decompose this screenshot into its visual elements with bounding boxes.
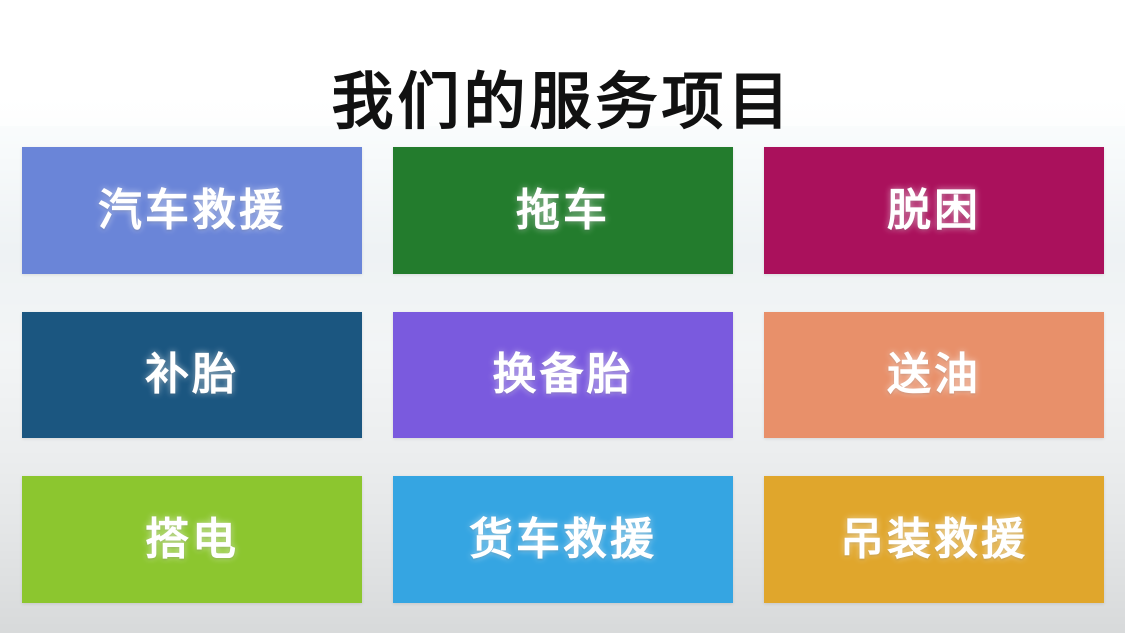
service-tile-label: 送油 xyxy=(887,353,981,397)
service-tile-truck-rescue[interactable]: 货车救援 xyxy=(393,476,733,603)
service-tile-label: 汽车救援 xyxy=(98,189,286,233)
service-tile-spare-tire-change[interactable]: 换备胎 xyxy=(393,312,733,438)
services-grid: 汽车救援 拖车 脱困 补胎 换备胎 送油 搭电 货车救援 吊装救援 xyxy=(22,147,1105,617)
service-tile-label: 换备胎 xyxy=(493,353,634,397)
service-tile-extrication[interactable]: 脱困 xyxy=(764,147,1104,274)
service-tile-tire-repair[interactable]: 补胎 xyxy=(22,312,362,438)
service-tile-label: 搭电 xyxy=(145,518,239,562)
service-tile-crane-lifting-rescue[interactable]: 吊装救援 xyxy=(764,476,1104,603)
service-tile-car-rescue[interactable]: 汽车救援 xyxy=(22,147,362,274)
service-tile-label: 货车救援 xyxy=(469,518,657,562)
page-title: 我们的服务项目 xyxy=(0,62,1125,142)
service-tile-label: 吊装救援 xyxy=(840,518,1028,562)
service-tile-label: 拖车 xyxy=(516,189,610,233)
service-tile-label: 脱困 xyxy=(887,189,981,233)
service-tile-fuel-delivery[interactable]: 送油 xyxy=(764,312,1104,438)
service-tile-tow-truck[interactable]: 拖车 xyxy=(393,147,733,274)
service-tile-label: 补胎 xyxy=(145,353,239,397)
service-tile-jump-start[interactable]: 搭电 xyxy=(22,476,362,603)
service-poster: 我们的服务项目 汽车救援 拖车 脱困 补胎 换备胎 送油 搭电 货车救援 吊装救… xyxy=(0,0,1125,633)
